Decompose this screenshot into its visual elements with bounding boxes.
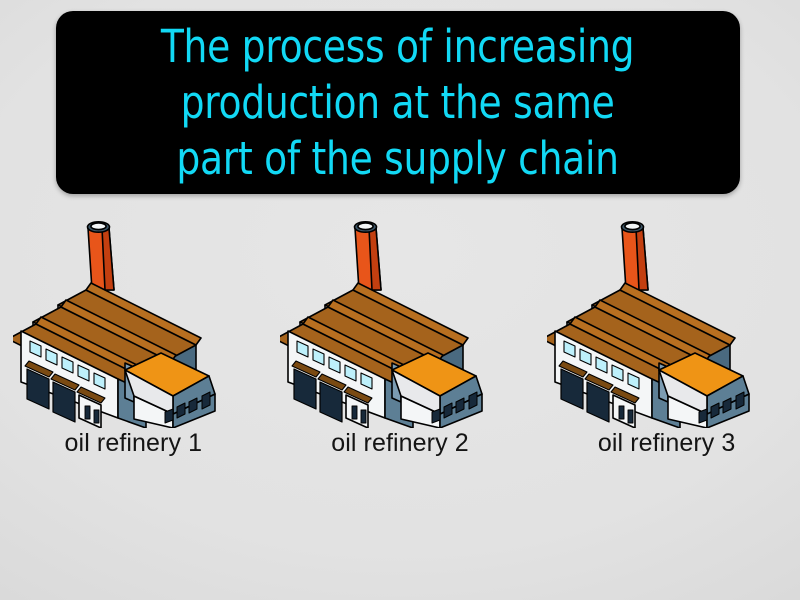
- definition-banner: The process of increasing production at …: [56, 11, 740, 194]
- factory-item-1: oil refinery 1: [6, 206, 261, 456]
- factory-label: oil refinery 3: [598, 431, 736, 456]
- factory-icon: [13, 206, 253, 428]
- factory-item-3: oil refinery 3: [539, 206, 794, 456]
- factory-item-2: oil refinery 2: [272, 206, 527, 456]
- factory-icon: [280, 206, 520, 428]
- factory-row: oil refinery 1: [0, 206, 800, 496]
- factory-icon: [547, 206, 787, 428]
- factory-label: oil refinery 2: [331, 431, 469, 456]
- factory-label: oil refinery 1: [65, 431, 203, 456]
- definition-text: The process of increasing production at …: [161, 19, 634, 187]
